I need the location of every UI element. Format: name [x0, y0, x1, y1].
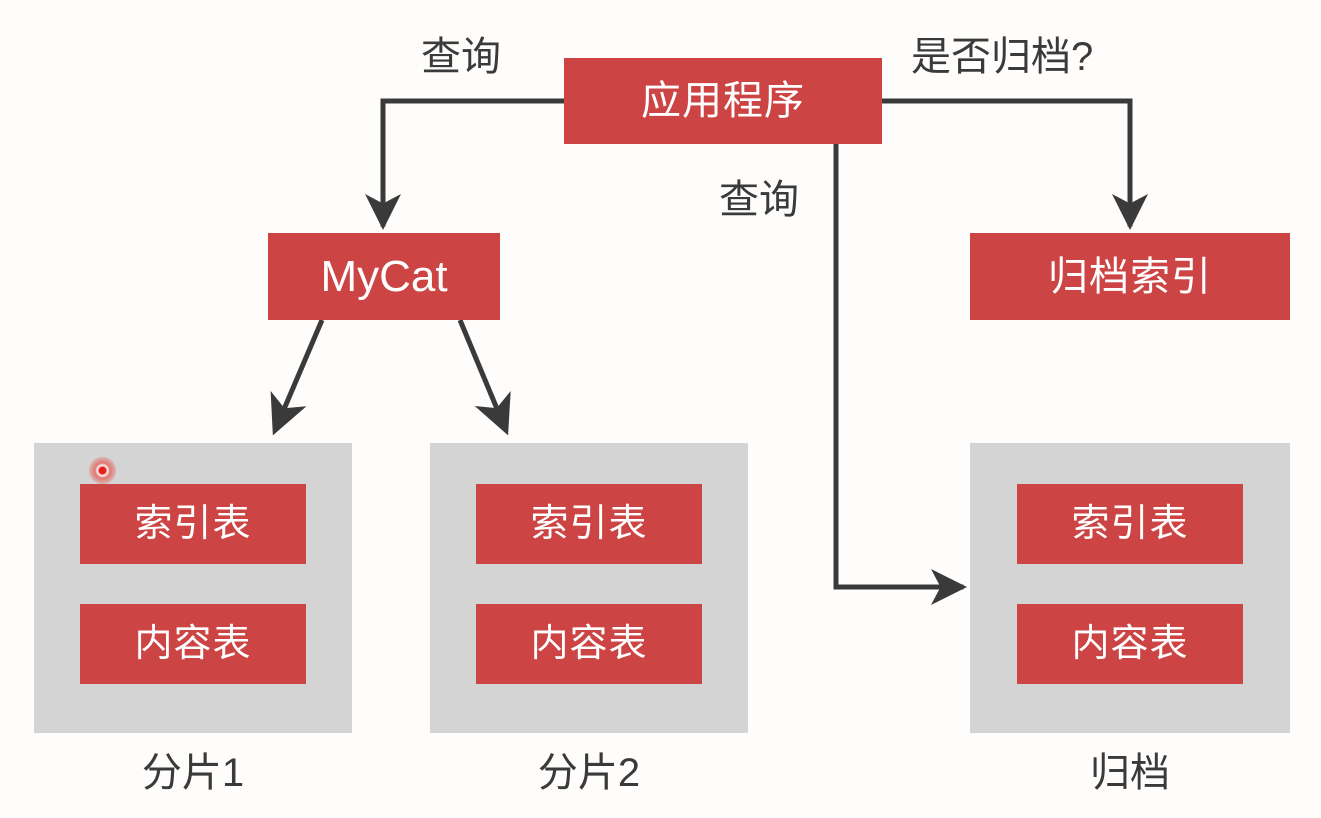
group-box-shard2[interactable]: 索引表 内容表	[430, 443, 748, 733]
node-index-table-shard1[interactable]: 索引表	[80, 484, 306, 564]
edge-app-to-archive-group	[836, 144, 961, 587]
node-archive-index[interactable]: 归档索引	[970, 233, 1290, 320]
node-application[interactable]: 应用程序	[564, 58, 882, 144]
node-mycat[interactable]: MyCat	[268, 233, 500, 320]
diagram-canvas: 查询 是否归档? 查询 应用程序 MyCat 归档索引 索引表 内容表 分片1 …	[0, 0, 1321, 818]
edge-label-archive-question: 是否归档?	[911, 37, 1093, 77]
edge-label-query-left: 查询	[421, 37, 501, 77]
group-caption-archive: 归档	[970, 753, 1290, 793]
group-caption-shard2: 分片2	[430, 753, 748, 793]
node-index-table-shard2[interactable]: 索引表	[476, 484, 702, 564]
edge-mycat-to-shard1	[276, 320, 322, 428]
edge-mycat-to-shard2	[460, 320, 505, 428]
group-box-archive[interactable]: 索引表 内容表	[970, 443, 1290, 733]
node-content-table-archive[interactable]: 内容表	[1017, 604, 1243, 684]
edge-app-to-archive-index	[882, 101, 1130, 224]
group-caption-shard1: 分片1	[34, 753, 352, 793]
node-content-table-shard1[interactable]: 内容表	[80, 604, 306, 684]
edge-label-query-middle: 查询	[719, 180, 799, 220]
node-content-table-shard2[interactable]: 内容表	[476, 604, 702, 684]
node-index-table-archive[interactable]: 索引表	[1017, 484, 1243, 564]
group-box-shard1[interactable]: 索引表 内容表	[34, 443, 352, 733]
edge-app-to-mycat	[383, 101, 564, 224]
